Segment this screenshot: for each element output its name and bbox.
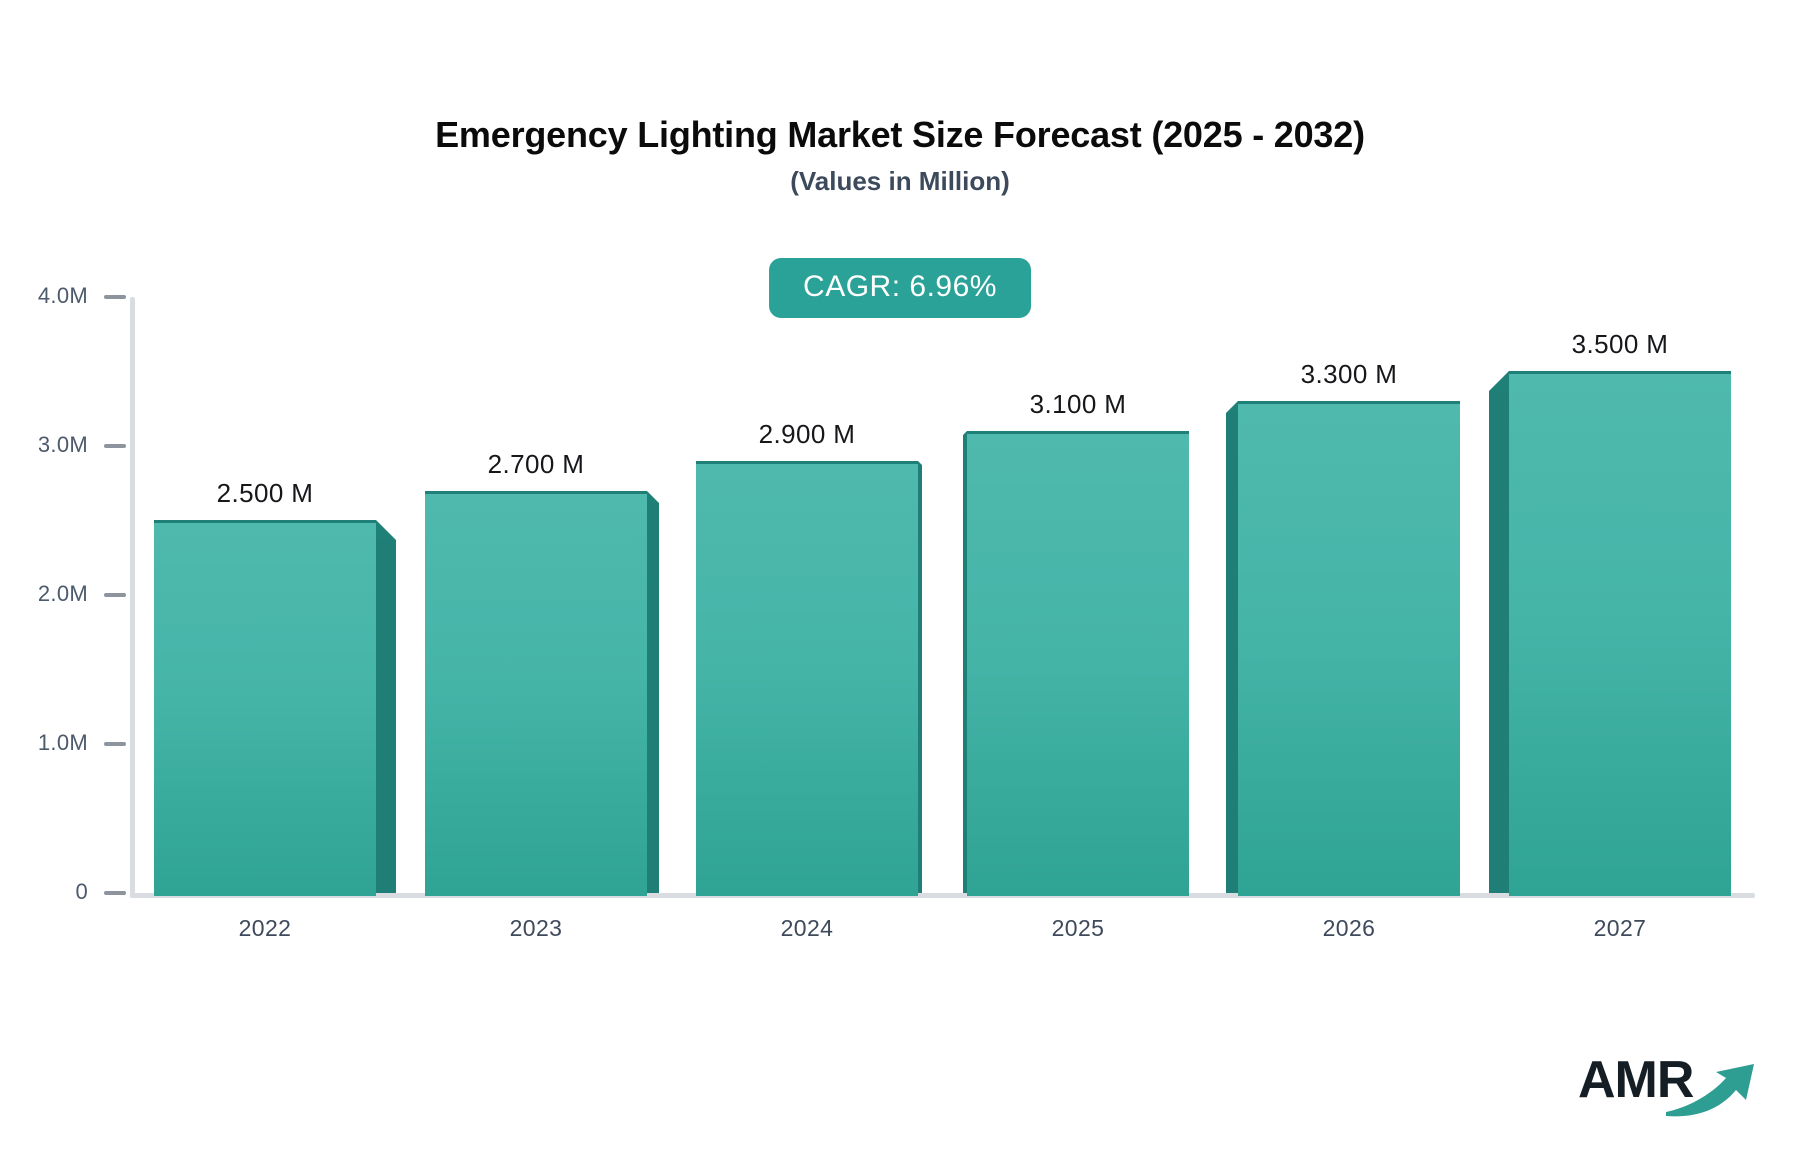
bar-top-chamfer — [1489, 371, 1509, 391]
bar-value-label: 3.300 M — [1238, 359, 1460, 390]
y-axis-label: 4.0M — [38, 283, 88, 309]
x-axis-label-2023: 2023 — [425, 915, 647, 942]
bar-2022[interactable] — [154, 520, 376, 896]
x-axis-label-2027: 2027 — [1509, 915, 1731, 942]
y-axis-tick — [104, 742, 126, 746]
y-axis-tick — [104, 295, 126, 299]
y-axis-label: 2.0M — [38, 581, 88, 607]
bar-top-chamfer — [376, 520, 396, 540]
x-axis-line — [130, 893, 1755, 898]
bar-value-label: 2.700 M — [425, 449, 647, 480]
amr-logo: AMR — [1578, 1048, 1758, 1120]
bar-top-chamfer — [647, 491, 659, 503]
bar-value-label: 2.900 M — [696, 419, 918, 450]
bar-2025[interactable] — [967, 431, 1189, 896]
bar-value-label: 3.100 M — [967, 389, 1189, 420]
y-axis-line — [130, 297, 135, 897]
bar-2026[interactable] — [1238, 401, 1460, 896]
y-axis-label: 3.0M — [38, 432, 88, 458]
bar-top-chamfer — [1226, 401, 1238, 413]
y-axis-tick — [104, 593, 126, 597]
bar-side-face — [1489, 391, 1509, 893]
trend-up-arrow-icon — [1664, 1062, 1760, 1118]
cagr-badge: CAGR: 6.96% — [769, 258, 1031, 318]
bar-side-face — [376, 540, 396, 893]
bar-top-chamfer — [918, 461, 922, 465]
chart-canvas: Emergency Lighting Market Size Forecast … — [0, 0, 1800, 1156]
bar-2024[interactable] — [696, 461, 918, 896]
bar-side-face — [647, 503, 659, 893]
bar-2027[interactable] — [1509, 371, 1731, 896]
bar-side-face — [1226, 413, 1238, 893]
y-axis-tick — [104, 444, 126, 448]
page-title: Emergency Lighting Market Size Forecast … — [0, 114, 1800, 156]
bar-side-face — [918, 465, 922, 893]
chart-subtitle: (Values in Million) — [0, 166, 1800, 197]
bar-value-label: 3.500 M — [1509, 329, 1731, 360]
x-axis-label-2024: 2024 — [696, 915, 918, 942]
x-axis-label-2022: 2022 — [154, 915, 376, 942]
y-axis-label: 1.0M — [38, 730, 88, 756]
bar-value-label: 2.500 M — [154, 478, 376, 509]
y-axis-tick — [104, 891, 126, 895]
bar-top-chamfer — [963, 431, 967, 435]
bar-2023[interactable] — [425, 491, 647, 896]
x-axis-label-2025: 2025 — [967, 915, 1189, 942]
x-axis-label-2026: 2026 — [1238, 915, 1460, 942]
bar-side-face — [963, 435, 967, 893]
y-axis-label: 0 — [75, 879, 88, 905]
